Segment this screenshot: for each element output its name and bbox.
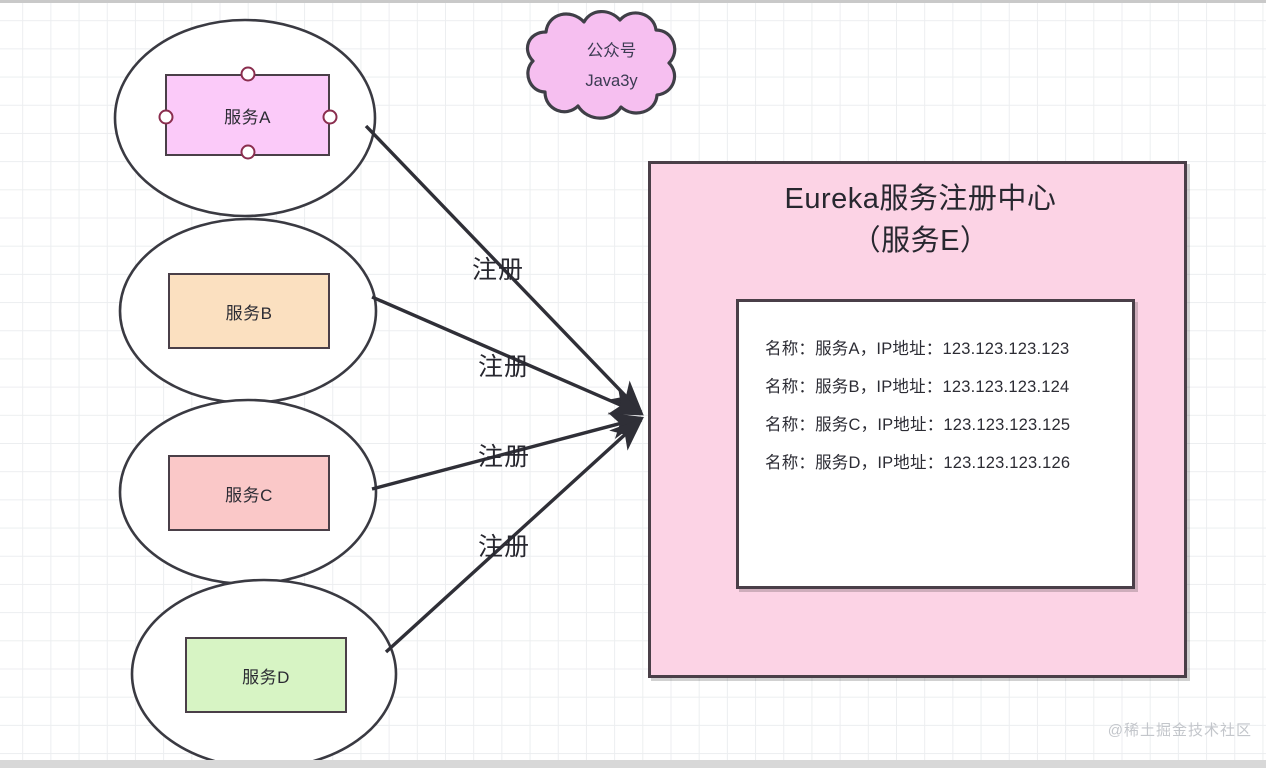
service-b-box[interactable]: 服务B bbox=[168, 273, 330, 349]
edge-c-label: 注册 bbox=[478, 437, 530, 473]
eureka-title-line-2: （服务E） bbox=[651, 220, 1190, 262]
service-d-box[interactable]: 服务D bbox=[185, 637, 347, 713]
service-d-label: 服务D bbox=[242, 663, 290, 688]
cloud-badge-label: 公众号 Java3y bbox=[550, 36, 673, 96]
diagram-canvas: 公众号 Java3y 服务A 服务B 服务C 服务D 注册 注册 注册 注册 E… bbox=[0, 0, 1266, 768]
registry-row: 名称：服务A，IP地址：123.123.123.123 bbox=[765, 330, 1132, 368]
service-a-label: 服务A bbox=[224, 103, 271, 128]
registry-row: 名称：服务D，IP地址：123.123.123.126 bbox=[765, 444, 1132, 482]
cloud-line-2: Java3y bbox=[550, 66, 673, 96]
service-c-box[interactable]: 服务C bbox=[168, 455, 330, 531]
service-b-label: 服务B bbox=[226, 299, 273, 324]
service-a-box[interactable]: 服务A bbox=[165, 74, 330, 156]
service-c-label: 服务C bbox=[225, 481, 273, 506]
bottom-edge-bar bbox=[0, 760, 1266, 768]
eureka-registry-box[interactable]: Eureka服务注册中心 （服务E） 名称：服务A，IP地址：123.123.1… bbox=[648, 161, 1187, 678]
registry-row: 名称：服务B，IP地址：123.123.123.124 bbox=[765, 368, 1132, 406]
cloud-line-1: 公众号 bbox=[550, 36, 673, 66]
registry-row: 名称：服务C，IP地址：123.123.123.125 bbox=[765, 406, 1132, 444]
registry-table[interactable]: 名称：服务A，IP地址：123.123.123.123 名称：服务B，IP地址：… bbox=[736, 299, 1135, 589]
edge-b-label: 注册 bbox=[478, 347, 530, 383]
eureka-title: Eureka服务注册中心 （服务E） bbox=[651, 178, 1190, 262]
edge-a-label: 注册 bbox=[472, 250, 524, 286]
eureka-title-line-1: Eureka服务注册中心 bbox=[651, 178, 1190, 220]
edge-d-label: 注册 bbox=[478, 527, 530, 563]
watermark: @稀土掘金技术社区 bbox=[1108, 719, 1252, 740]
